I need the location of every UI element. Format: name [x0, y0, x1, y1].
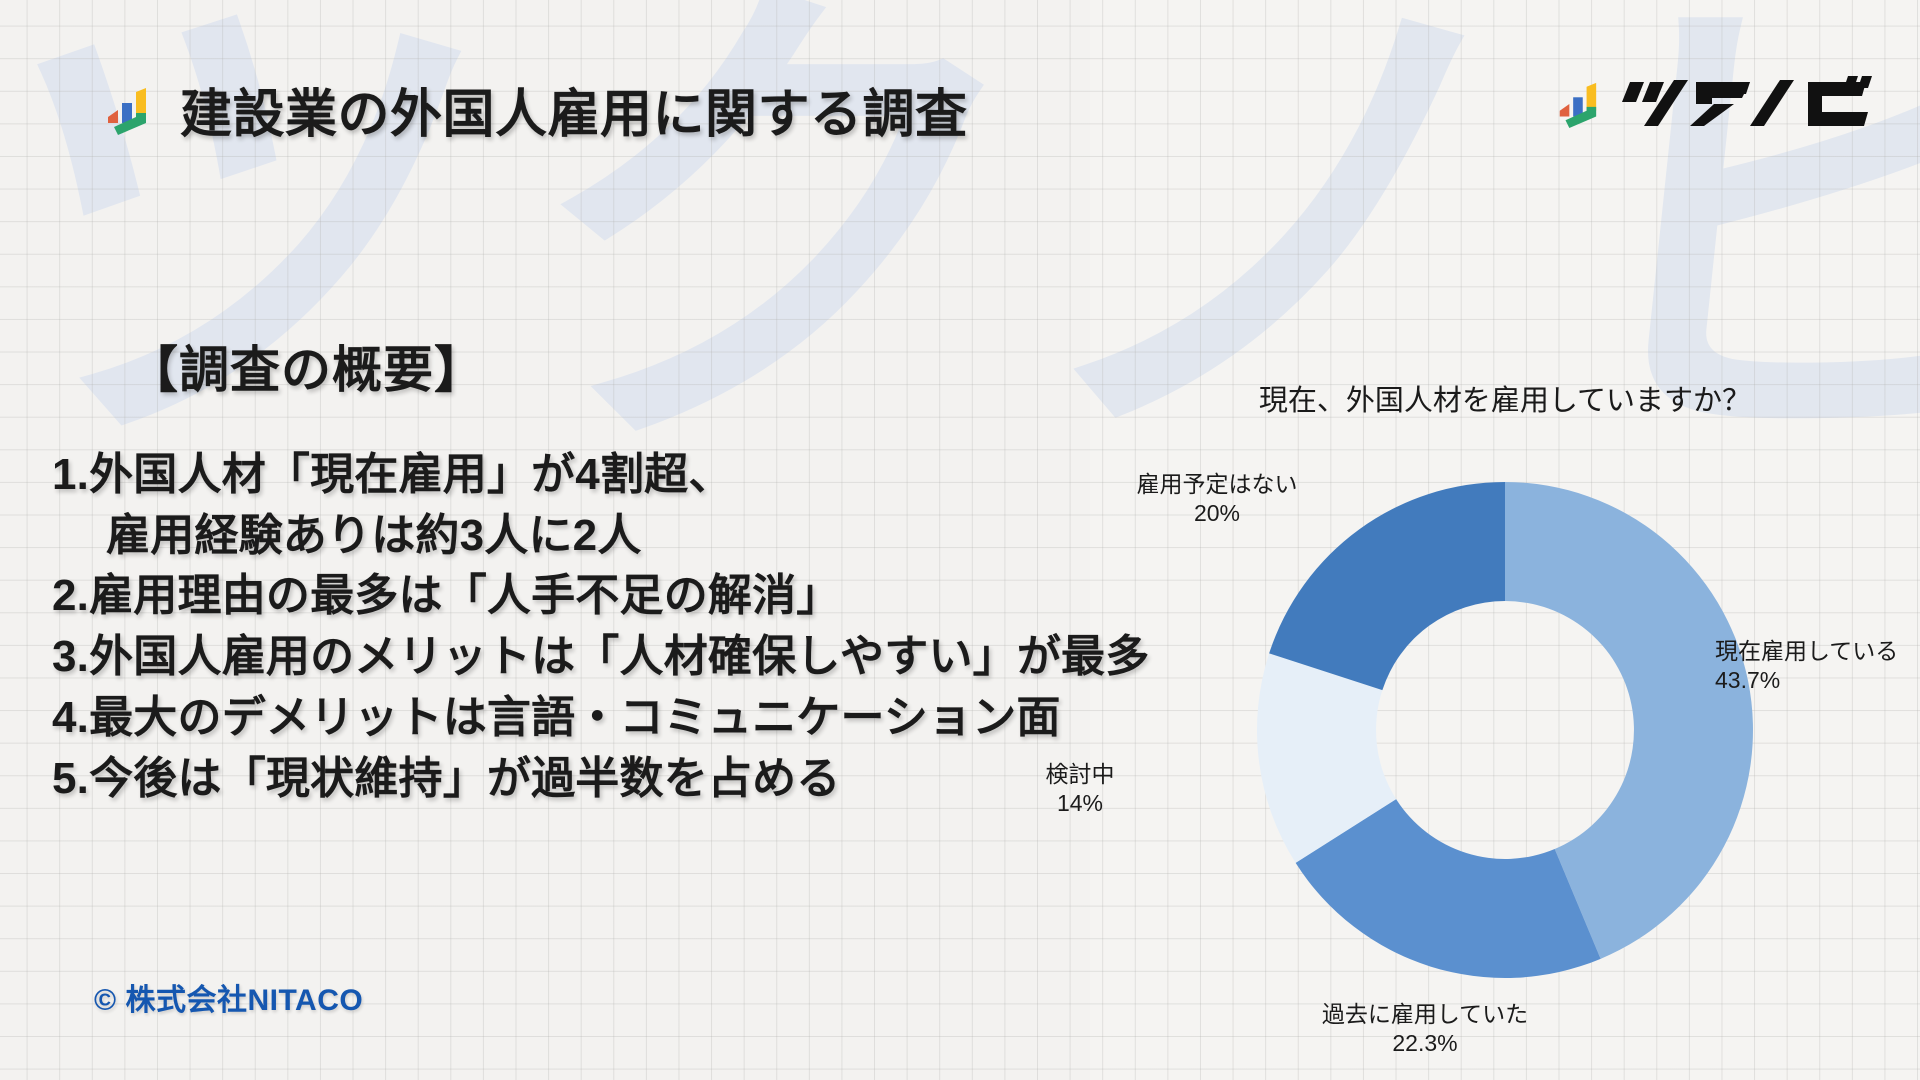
list-item: 雇用経験ありは約3人に2人: [52, 506, 1092, 567]
list-item: 4.最大のデメリットは言語・コミュニケーション面: [52, 688, 1092, 749]
slice-label-text: 過去に雇用していた: [1322, 1001, 1528, 1027]
list-item: 2.雇用理由の最多は「人手不足の解消」: [52, 566, 1092, 627]
slide-canvas: ツクノビ 建設業の外国人雇用に関する調査: [0, 0, 1920, 1080]
chart-title: 現在、外国人材を雇用していますか？: [1245, 382, 1765, 421]
slice-label-value: 43.7%: [1715, 666, 1898, 695]
list-item: 1.外国人材「現在雇用」が4割超、: [52, 445, 1092, 506]
slice-label-previously-employed: 過去に雇用していた 22.3%: [1275, 1000, 1575, 1058]
slice-label-value: 22.3%: [1275, 1029, 1575, 1058]
title-row: 建設業の外国人雇用に関する調査: [102, 72, 968, 147]
slice-label-considering: 検討中 14%: [1010, 760, 1150, 818]
donut-chart: [1175, 480, 1835, 980]
slice-label-currently-employing: 現在雇用している 43.7%: [1715, 637, 1898, 695]
section-heading: 【調査の概要】: [128, 330, 485, 402]
slice-label-text: 現在雇用している: [1715, 638, 1898, 664]
copyright-notice: © 株式会社NITACO: [94, 975, 363, 1019]
page-title: 建設業の外国人雇用に関する調査: [180, 72, 968, 147]
slice-label-value: 20%: [1087, 499, 1347, 528]
tsukunobi-bars-icon: [102, 83, 150, 137]
summary-bullet-list: 1.外国人材「現在雇用」が4割超、 雇用経験ありは約3人に2人 2.雇用理由の最…: [52, 445, 1092, 809]
slice-label-no-plan: 雇用予定はない 20%: [1087, 470, 1347, 528]
slice-label-value: 14%: [1010, 789, 1150, 818]
slice-label-text: 検討中: [1046, 761, 1115, 787]
list-item: 3.外国人雇用のメリットは「人材確保しやすい」が最多: [52, 627, 1092, 688]
slice-label-text: 雇用予定はない: [1137, 471, 1298, 497]
donut-chart-panel: 現在、外国人材を雇用していますか？ 雇用予定はない 20% 現在雇用している 4…: [1090, 0, 1920, 1080]
list-item: 5.今後は「現状維持」が過半数を占める: [52, 749, 1092, 810]
